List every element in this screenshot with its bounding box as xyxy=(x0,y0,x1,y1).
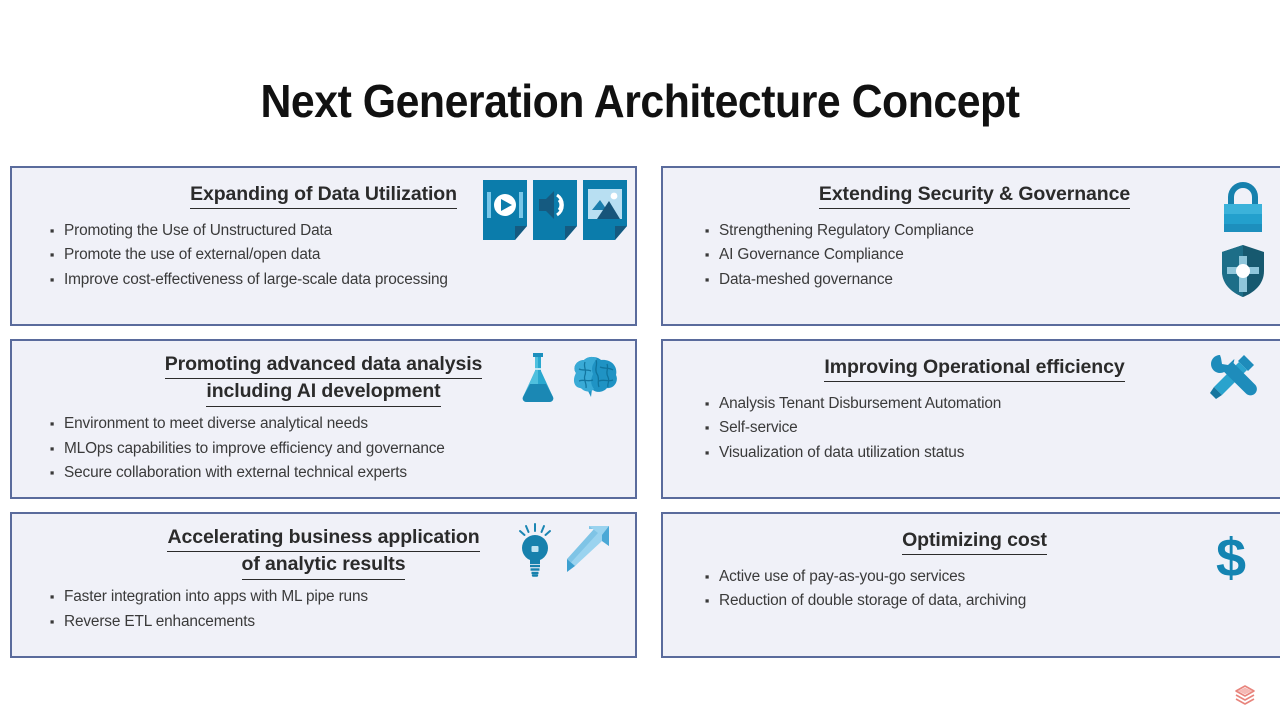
card-bullet-list: ▪ Faster integration into apps with ML p… xyxy=(12,585,635,634)
padlock-icon xyxy=(1218,180,1268,236)
card-bullet-list: ▪ Strengthening Regulatory Compliance ▪ … xyxy=(663,218,1280,291)
card-bullet-list: ▪ Analysis Tenant Disbursement Automatio… xyxy=(663,391,1280,464)
bullet-icon: ▪ xyxy=(695,421,719,434)
list-item-label: AI Governance Compliance xyxy=(719,247,1280,262)
bullet-icon: ▪ xyxy=(695,446,719,459)
card-promoting-advanced-data-analysis[interactable]: Promoting advanced data analysis includi… xyxy=(10,339,637,499)
list-item: ▪ Self-service xyxy=(663,416,1280,440)
card-icon-group xyxy=(515,522,613,578)
card-icon-group xyxy=(1218,180,1268,298)
bullet-icon: ▪ xyxy=(40,442,64,455)
bullet-icon: ▪ xyxy=(695,273,719,286)
lightbulb-icon xyxy=(515,522,555,578)
card-icon-group xyxy=(1206,351,1258,403)
card-title: Optimizing cost xyxy=(663,528,1280,555)
dollar-icon: $ xyxy=(1210,530,1252,586)
image-icon xyxy=(583,180,627,240)
list-item-label: Active use of pay-as-you-go services xyxy=(719,569,1280,584)
bullet-icon: ▪ xyxy=(40,273,64,286)
list-item-label: Strengthening Regulatory Compliance xyxy=(719,223,1280,238)
list-item: ▪ MLOps capabilities to improve efficien… xyxy=(12,436,635,460)
list-item-label: Self-service xyxy=(719,420,1280,435)
list-item: ▪ AI Governance Compliance xyxy=(663,243,1280,267)
card-icon-group: $ xyxy=(1210,530,1252,586)
card-icon-group xyxy=(519,351,621,403)
card-title-line: including AI development xyxy=(206,379,440,406)
card-title: Improving Operational efficiency xyxy=(663,355,1280,382)
video-icon xyxy=(483,180,527,240)
card-grid: Expanding of Data Utilization ▪ Promotin… xyxy=(10,166,1270,660)
bullet-icon: ▪ xyxy=(40,224,64,237)
list-item-label: Secure collaboration with external techn… xyxy=(64,465,635,480)
list-item: ▪ Reduction of double storage of data, a… xyxy=(663,589,1280,613)
list-item: ▪ Visualization of data utilization stat… xyxy=(663,440,1280,464)
page-title: Next Generation Architecture Concept xyxy=(45,74,1235,128)
list-item-label: MLOps capabilities to improve efficiency… xyxy=(64,441,635,456)
list-item-label: Promote the use of external/open data xyxy=(64,247,635,262)
growth-arrow-icon xyxy=(561,522,613,578)
list-item-label: Reduction of double storage of data, arc… xyxy=(719,593,1280,608)
list-item: ▪ Improve cost-effectiveness of large-sc… xyxy=(12,267,635,291)
bullet-icon: ▪ xyxy=(695,570,719,583)
bullet-icon: ▪ xyxy=(695,397,719,410)
card-title-line: Improving Operational efficiency xyxy=(824,355,1124,382)
list-item: ▪ Active use of pay-as-you-go services xyxy=(663,564,1280,588)
card-title-line: Extending Security & Governance xyxy=(819,182,1130,209)
list-item-label: Reverse ETL enhancements xyxy=(64,614,635,629)
list-item-label: Faster integration into apps with ML pip… xyxy=(64,589,635,604)
list-item-label: Analysis Tenant Disbursement Automation xyxy=(719,396,1280,411)
bullet-icon: ▪ xyxy=(40,590,64,603)
list-item: ▪ Secure collaboration with external tec… xyxy=(12,461,635,485)
card-title-line: Promoting advanced data analysis xyxy=(165,352,483,379)
card-title-line: Optimizing cost xyxy=(902,528,1047,555)
svg-text:$: $ xyxy=(1216,530,1246,586)
list-item-label: Improve cost-effectiveness of large-scal… xyxy=(64,272,635,287)
card-accelerating-business-application[interactable]: Accelerating business application of ana… xyxy=(10,512,637,658)
flask-icon xyxy=(519,351,557,403)
databricks-logo xyxy=(1232,682,1258,708)
bullet-icon: ▪ xyxy=(40,615,64,628)
card-optimizing-cost[interactable]: Optimizing cost ▪ Active use of pay-as-y… xyxy=(661,512,1280,658)
card-bullet-list: ▪ Active use of pay-as-you-go services ▪… xyxy=(663,564,1280,613)
list-item: ▪ Reverse ETL enhancements xyxy=(12,609,635,633)
list-item: ▪ Strengthening Regulatory Compliance xyxy=(663,218,1280,242)
list-item-label: Visualization of data utilization status xyxy=(719,445,1280,460)
list-item: ▪ Faster integration into apps with ML p… xyxy=(12,585,635,609)
list-item: ▪ Data-meshed governance xyxy=(663,267,1280,291)
card-title-line: of analytic results xyxy=(242,552,406,579)
brain-icon xyxy=(567,355,621,399)
list-item: ▪ Environment to meet diverse analytical… xyxy=(12,412,635,436)
audio-icon xyxy=(533,180,577,240)
card-title-line: Accelerating business application xyxy=(167,525,479,552)
card-title-line: Expanding of Data Utilization xyxy=(190,182,457,209)
list-item: ▪ Promote the use of external/open data xyxy=(12,243,635,267)
bullet-icon: ▪ xyxy=(695,594,719,607)
bullet-icon: ▪ xyxy=(40,466,64,479)
list-item: ▪ Analysis Tenant Disbursement Automatio… xyxy=(663,391,1280,415)
card-title: Extending Security & Governance xyxy=(663,182,1280,209)
bullet-icon: ▪ xyxy=(40,248,64,261)
bullet-icon: ▪ xyxy=(40,417,64,430)
card-extending-security-governance[interactable]: Extending Security & Governance ▪ Streng… xyxy=(661,166,1280,326)
list-item-label: Environment to meet diverse analytical n… xyxy=(64,416,635,431)
card-icon-group xyxy=(483,180,627,240)
card-bullet-list: ▪ Environment to meet diverse analytical… xyxy=(12,412,635,485)
bullet-icon: ▪ xyxy=(695,224,719,237)
card-expanding-data-utilization[interactable]: Expanding of Data Utilization ▪ Promotin… xyxy=(10,166,637,326)
tools-icon xyxy=(1206,351,1258,403)
shield-icon xyxy=(1220,244,1266,298)
bullet-icon: ▪ xyxy=(695,248,719,261)
list-item-label: Data-meshed governance xyxy=(719,272,1280,287)
card-improving-operational-efficiency[interactable]: Improving Operational efficiency ▪ Analy… xyxy=(661,339,1280,499)
